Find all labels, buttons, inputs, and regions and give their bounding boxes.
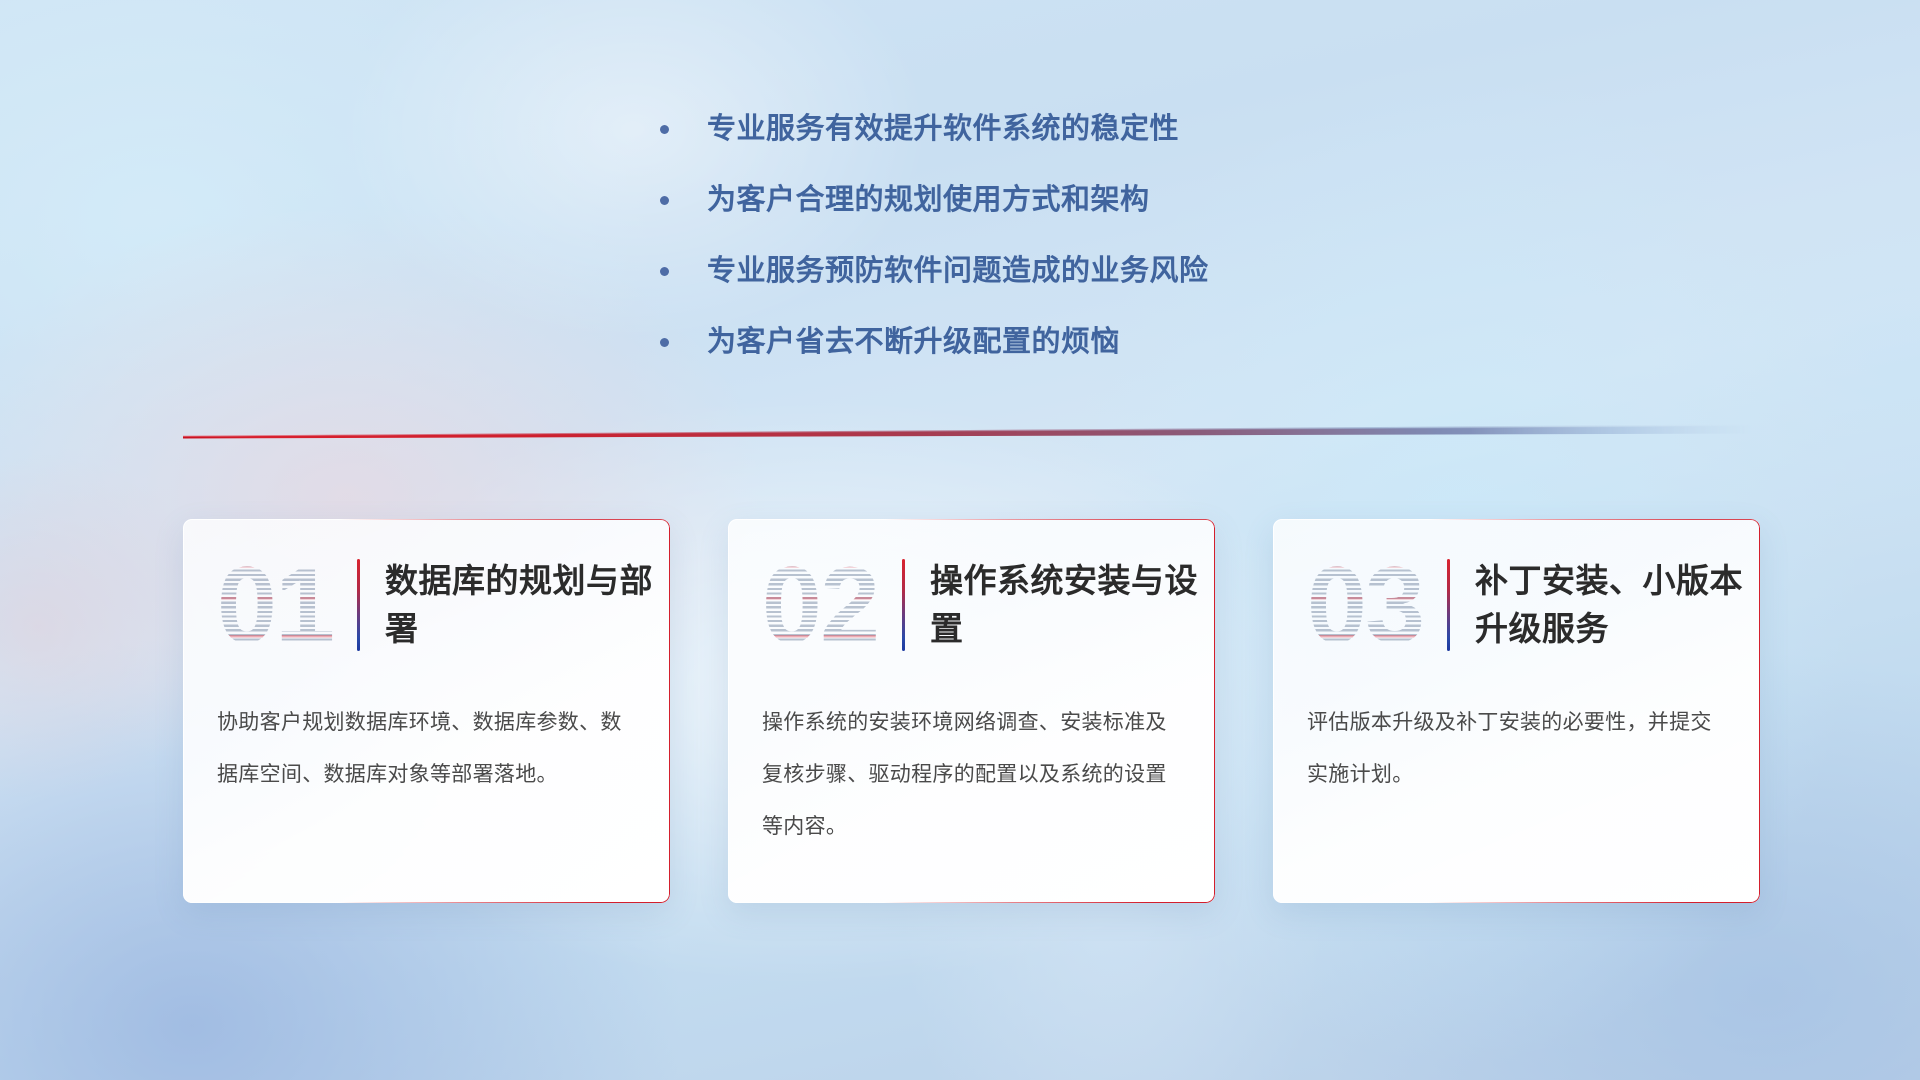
bullet-dot-icon — [660, 338, 669, 347]
feature-card[interactable]: 03 03 补丁安装、小版本升级服务 评估版本升级及补丁安装的必要性，并提交实施… — [1273, 519, 1760, 903]
card-number-graphic: 02 02 — [748, 551, 892, 659]
card-number-graphic: 03 03 — [1293, 551, 1437, 659]
card-number: 02 — [748, 551, 892, 659]
feature-card-group: 01 01 数据库的规划与部署 协助客户规划数据库环境、数据库参数、数据库空间、… — [183, 519, 1760, 903]
benefits-bullet-list: 专业服务有效提升软件系统的稳定性 为客户合理的规划使用方式和架构 专业服务预防软… — [660, 110, 1209, 394]
bullet-text: 专业服务有效提升软件系统的稳定性 — [707, 110, 1179, 148]
list-item: 为客户合理的规划使用方式和架构 — [660, 181, 1209, 219]
card-header: 01 01 数据库的规划与部署 — [183, 519, 670, 691]
card-number-graphic: 01 01 — [203, 551, 347, 659]
card-number: 03 — [1293, 551, 1437, 659]
bullet-dot-icon — [660, 125, 669, 134]
list-item: 为客户省去不断升级配置的烦恼 — [660, 323, 1209, 361]
bullet-text: 专业服务预防软件问题造成的业务风险 — [707, 252, 1209, 290]
card-title: 数据库的规划与部署 — [385, 557, 670, 653]
feature-card[interactable]: 01 01 数据库的规划与部署 协助客户规划数据库环境、数据库参数、数据库空间、… — [183, 519, 670, 903]
slide-canvas: 专业服务有效提升软件系统的稳定性 为客户合理的规划使用方式和架构 专业服务预防软… — [0, 0, 1920, 1080]
card-title: 操作系统安装与设置 — [930, 557, 1215, 653]
bullet-text: 为客户合理的规划使用方式和架构 — [707, 181, 1150, 219]
card-accent-bar — [902, 559, 905, 651]
card-title: 补丁安装、小版本升级服务 — [1475, 557, 1760, 653]
feature-card[interactable]: 02 02 操作系统安装与设置 操作系统的安装环境网络调查、安装标准及复核步骤、… — [728, 519, 1215, 903]
card-description: 协助客户规划数据库环境、数据库参数、数据库空间、数据库对象等部署落地。 — [183, 697, 670, 801]
bullet-text: 为客户省去不断升级配置的烦恼 — [707, 323, 1120, 361]
card-description: 操作系统的安装环境网络调查、安装标准及复核步骤、驱动程序的配置以及系统的设置等内… — [728, 697, 1215, 853]
card-header: 02 02 操作系统安装与设置 — [728, 519, 1215, 691]
card-description: 评估版本升级及补丁安装的必要性，并提交实施计划。 — [1273, 697, 1760, 801]
card-accent-bar — [1447, 559, 1450, 651]
bullet-dot-icon — [660, 267, 669, 276]
list-item: 专业服务预防软件问题造成的业务风险 — [660, 252, 1209, 290]
tapered-line-icon — [183, 420, 1753, 442]
divider — [183, 420, 1753, 442]
card-number: 01 — [203, 551, 347, 659]
bullet-dot-icon — [660, 196, 669, 205]
list-item: 专业服务有效提升软件系统的稳定性 — [660, 110, 1209, 148]
card-accent-bar — [357, 559, 360, 651]
card-header: 03 03 补丁安装、小版本升级服务 — [1273, 519, 1760, 691]
